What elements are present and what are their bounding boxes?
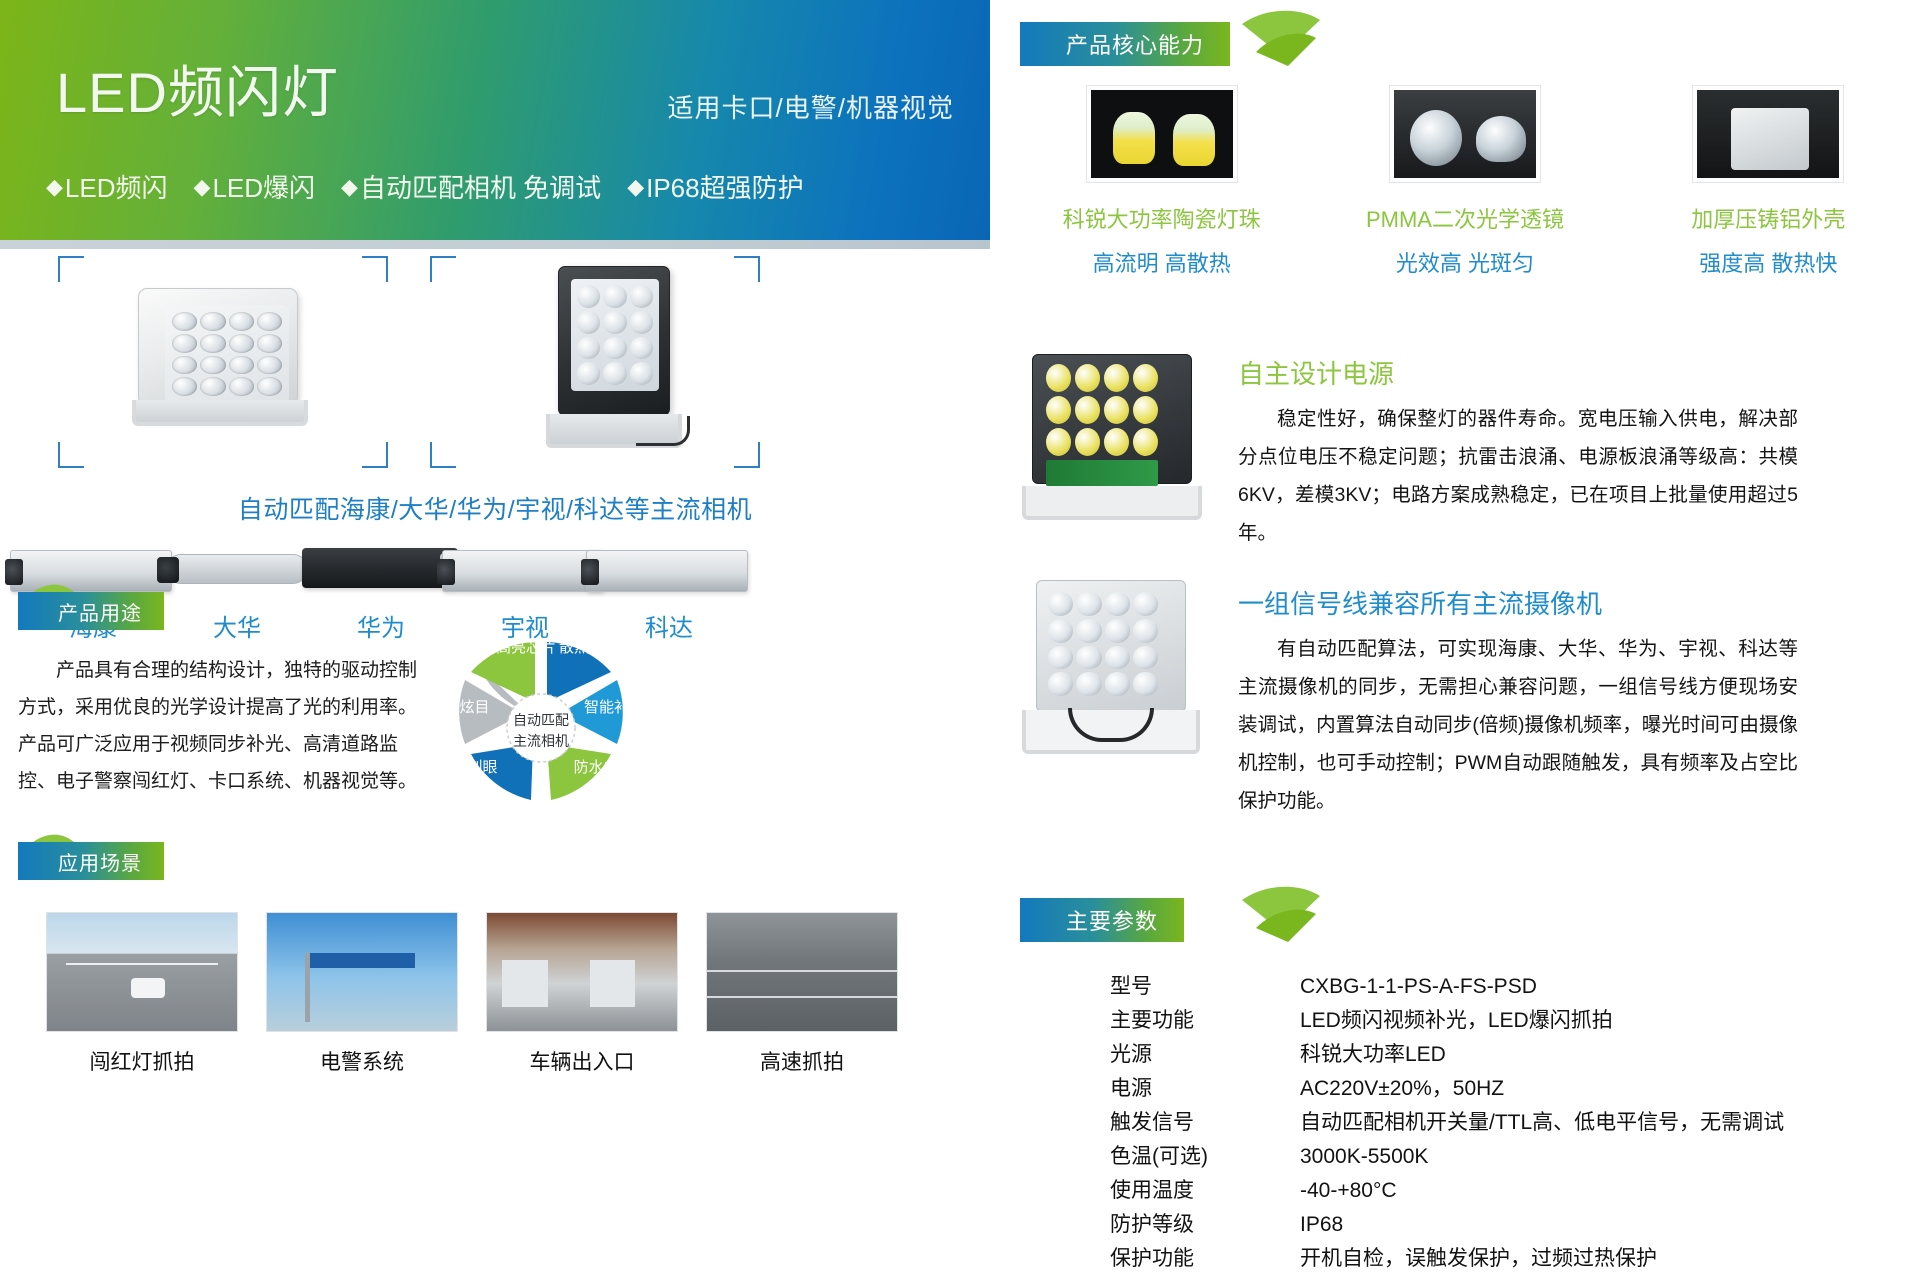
- core-item-0-title: 科锐大功率陶瓷灯珠: [1032, 202, 1292, 234]
- table-row: 型号CXBG-1-1-PS-A-FS-PSD: [1110, 970, 1910, 1004]
- header-feature-list: ◆LED频闪 ◆LED爆闪 ◆自动匹配相机 免调试 ◆IP68超强防护: [46, 168, 970, 205]
- petal-label-0: 高亮芯片: [494, 636, 558, 657]
- scenes-ribbon: 应用场景: [18, 842, 248, 884]
- scene-item-0: 闯红灯抓拍: [46, 912, 238, 1076]
- scene-item-2-caption: 车辆出入口: [486, 1046, 678, 1076]
- usage-section: 产品用途 产品具有合理的结构设计，独特的驱动控制方式，采用优良的光学设计提高了光…: [18, 592, 418, 800]
- table-row: 防护等级 IP68: [1110, 1208, 1910, 1242]
- scenes-ribbon-label: 应用场景: [18, 842, 164, 880]
- usage-body-text: 产品具有合理的结构设计，独特的驱动控制方式，采用优良的光学设计提高了光的利用率。…: [18, 652, 418, 800]
- scene-item-2: 车辆出入口: [486, 912, 678, 1076]
- corner-bracket-icon: [362, 256, 388, 282]
- core-capability-items: 科锐大功率陶瓷灯珠 高流明 高散热 PMMA二次光学透镜 光效高 光斑匀 加厚压…: [1010, 86, 1920, 278]
- petal-label-2: 智能补光: [576, 696, 652, 717]
- petal-center-line2: 主流相机: [513, 733, 569, 749]
- core-item-2-title: 加厚压铸铝外壳: [1638, 202, 1898, 234]
- corner-bracket-icon: [362, 442, 388, 468]
- led-floodlight-white-photo: [130, 282, 320, 432]
- corner-bracket-icon: [58, 442, 84, 468]
- param-value-1: LED频闪视频补光，LED爆闪抓拍: [1300, 1004, 1910, 1038]
- core-item-2: 加厚压铸铝外壳 强度高 散热快: [1638, 86, 1898, 278]
- param-value-0: CXBG-1-1-PS-A-FS-PSD: [1300, 970, 1910, 1004]
- lamp-led-array: [571, 279, 659, 391]
- param-value-5: 3000K-5500K: [1300, 1140, 1910, 1174]
- core-item-1-sub: 光效高 光斑匀: [1335, 246, 1595, 278]
- lamp-led-array: [165, 305, 289, 403]
- table-row: 使用温度-40-+80°C: [1110, 1174, 1910, 1208]
- param-value-8: 开机自检，误触发保护，过频过热保护: [1300, 1242, 1910, 1276]
- petal-label-4: 不刺眼: [438, 756, 512, 777]
- led-chip-photo: [1087, 86, 1237, 182]
- table-row: 保护功能开机自检，误触发保护，过频过热保护: [1110, 1242, 1910, 1276]
- param-key-1: 主要功能: [1110, 1004, 1300, 1038]
- ir-camera-icon: [580, 540, 758, 596]
- lamp-body: [558, 266, 670, 416]
- scenes-section: 应用场景 闯红灯抓拍 电警系统 车辆出入口 高速抓拍: [18, 842, 968, 884]
- param-key-8: 保护功能: [1110, 1242, 1300, 1276]
- header-feature-2: ◆自动匹配相机 免调试: [341, 168, 601, 205]
- petal-label-1: 散热性好: [554, 636, 624, 657]
- diamond-icon: ◆: [194, 174, 211, 200]
- optical-lens-photo: [1390, 86, 1540, 182]
- diamond-icon: ◆: [341, 174, 358, 200]
- petal-center-label: 自动匹配 主流相机: [505, 710, 577, 752]
- signal-compatibility-title: 一组信号线兼容所有主流摄像机: [1238, 584, 1602, 621]
- core-capability-ribbon: 产品核心能力: [1020, 22, 1310, 66]
- header-feature-1-label: LED爆闪: [212, 168, 315, 205]
- corner-bracket-icon: [58, 256, 84, 282]
- header-feature-2-label: 自动匹配相机 免调试: [360, 168, 601, 205]
- capability-petal-diagram: 高亮芯片 散热性好 智能补光 防水IP67 不刺眼 防炫目 自动匹配 主流相机: [426, 620, 656, 810]
- road-intersection-photo: [46, 912, 238, 1032]
- led-lamp-with-cable-photo: [1022, 578, 1222, 758]
- param-value-6: -40-+80°C: [1300, 1174, 1910, 1208]
- param-key-4: 触发信号: [1110, 1106, 1300, 1140]
- param-value-7: IP68: [1300, 1208, 1910, 1242]
- scene-thumbnail-row: 闯红灯抓拍 电警系统 车辆出入口 高速抓拍: [46, 912, 898, 1076]
- param-key-6: 使用温度: [1110, 1174, 1300, 1208]
- param-key-3: 电源: [1110, 1072, 1300, 1106]
- toll-station-photo: [486, 912, 678, 1032]
- table-row: 电源AC220V±20%，50HZ: [1110, 1072, 1910, 1106]
- diamond-icon: ◆: [627, 174, 644, 200]
- core-item-0-sub: 高流明 高散热: [1032, 246, 1292, 278]
- brochure-page: LED频闪灯 适用卡口/电警/机器视觉 ◆LED频闪 ◆LED爆闪 ◆自动匹配相…: [0, 0, 1920, 1281]
- core-capability-ribbon-label: 产品核心能力: [1020, 22, 1230, 66]
- lamp-mount-bracket: [132, 400, 308, 426]
- core-item-1: PMMA二次光学透镜 光效高 光斑匀: [1335, 86, 1595, 278]
- lamp-cable: [636, 416, 690, 446]
- petal-label-5: 防炫目: [430, 696, 504, 717]
- param-value-9: 智能运维(选配): [1300, 1276, 1910, 1281]
- table-row: 特色功能智能运维(选配): [1110, 1276, 1910, 1281]
- header-feature-0-label: LED频闪: [65, 168, 168, 205]
- scene-item-3-caption: 高速抓拍: [706, 1046, 898, 1076]
- param-key-5: 色温(可选): [1110, 1140, 1300, 1174]
- table-row: 光源科锐大功率LED: [1110, 1038, 1910, 1072]
- header-banner: LED频闪灯 适用卡口/电警/机器视觉 ◆LED频闪 ◆LED爆闪 ◆自动匹配相…: [0, 0, 990, 240]
- header-feature-3: ◆IP68超强防护: [627, 168, 803, 205]
- header-feature-3-label: IP68超强防护: [646, 168, 804, 205]
- usage-ribbon-label: 产品用途: [18, 592, 164, 630]
- highway-photo: [706, 912, 898, 1032]
- parameters-ribbon: 主要参数: [1020, 898, 1310, 942]
- param-key-7: 防护等级: [1110, 1208, 1300, 1242]
- camera-match-line: 自动匹配海康/大华/华为/宇视/科达等主流相机: [0, 490, 990, 526]
- param-key-2: 光源: [1110, 1038, 1300, 1072]
- header-subtitle: 适用卡口/电警/机器视觉: [668, 88, 954, 125]
- param-value-2: 科锐大功率LED: [1300, 1038, 1910, 1072]
- power-supply-title: 自主设计电源: [1238, 354, 1394, 391]
- param-key-9: 特色功能: [1110, 1276, 1300, 1281]
- param-key-0: 型号: [1110, 970, 1300, 1004]
- petal-label-3: 防水IP67: [564, 756, 644, 777]
- signal-compatibility-body: 有自动匹配算法，可实现海康、大华、华为、宇视、科达等主流摄像机的同步，无需担心兼…: [1238, 630, 1798, 820]
- product-photo-row: [50, 252, 940, 482]
- core-item-0: 科锐大功率陶瓷灯珠 高流明 高散热: [1032, 86, 1292, 278]
- petal-center-line1: 自动匹配: [513, 712, 569, 728]
- corner-bracket-icon: [430, 256, 456, 282]
- scene-item-0-caption: 闯红灯抓拍: [46, 1046, 238, 1076]
- header-underline: [0, 240, 990, 249]
- traffic-sign-gantry-photo: [266, 912, 458, 1032]
- core-item-1-title: PMMA二次光学透镜: [1335, 202, 1595, 234]
- scene-item-1-caption: 电警系统: [266, 1046, 458, 1076]
- core-item-2-sub: 强度高 散热快: [1638, 246, 1898, 278]
- corner-bracket-icon: [734, 256, 760, 282]
- page-title: LED频闪灯: [56, 48, 339, 129]
- param-value-3: AC220V±20%，50HZ: [1300, 1072, 1910, 1106]
- table-row: 触发信号自动匹配相机开关量/TTL高、低电平信号，无需调试: [1110, 1106, 1910, 1140]
- parameters-ribbon-label: 主要参数: [1020, 898, 1184, 942]
- led-floodlight-black-photo: [540, 266, 710, 456]
- lamp-body: [138, 288, 298, 406]
- param-value-4: 自动匹配相机开关量/TTL高、低电平信号，无需调试: [1300, 1106, 1910, 1140]
- aluminum-housing-photo: [1693, 86, 1843, 182]
- scene-item-3: 高速抓拍: [706, 912, 898, 1076]
- header-feature-1: ◆LED爆闪: [194, 168, 316, 205]
- header-feature-0: ◆LED频闪: [46, 168, 168, 205]
- corner-bracket-icon: [430, 442, 456, 468]
- diamond-icon: ◆: [46, 174, 63, 200]
- table-row: 主要功能LED频闪视频补光，LED爆闪抓拍: [1110, 1004, 1910, 1038]
- corner-bracket-icon: [734, 442, 760, 468]
- scene-item-1: 电警系统: [266, 912, 458, 1076]
- table-row: 色温(可选)3000K-5500K: [1110, 1140, 1910, 1174]
- power-supply-module-photo: [1022, 348, 1222, 528]
- parameters-table: 型号CXBG-1-1-PS-A-FS-PSD 主要功能LED频闪视频补光，LED…: [1110, 970, 1910, 1281]
- product-photo-frame-2: [430, 256, 760, 468]
- usage-ribbon: 产品用途: [18, 592, 248, 634]
- power-supply-body: 稳定性好，确保整灯的器件寿命。宽电压输入供电，解决部分点位电压不稳定问题；抗雷击…: [1238, 400, 1798, 552]
- product-photo-frame-1: [58, 256, 388, 468]
